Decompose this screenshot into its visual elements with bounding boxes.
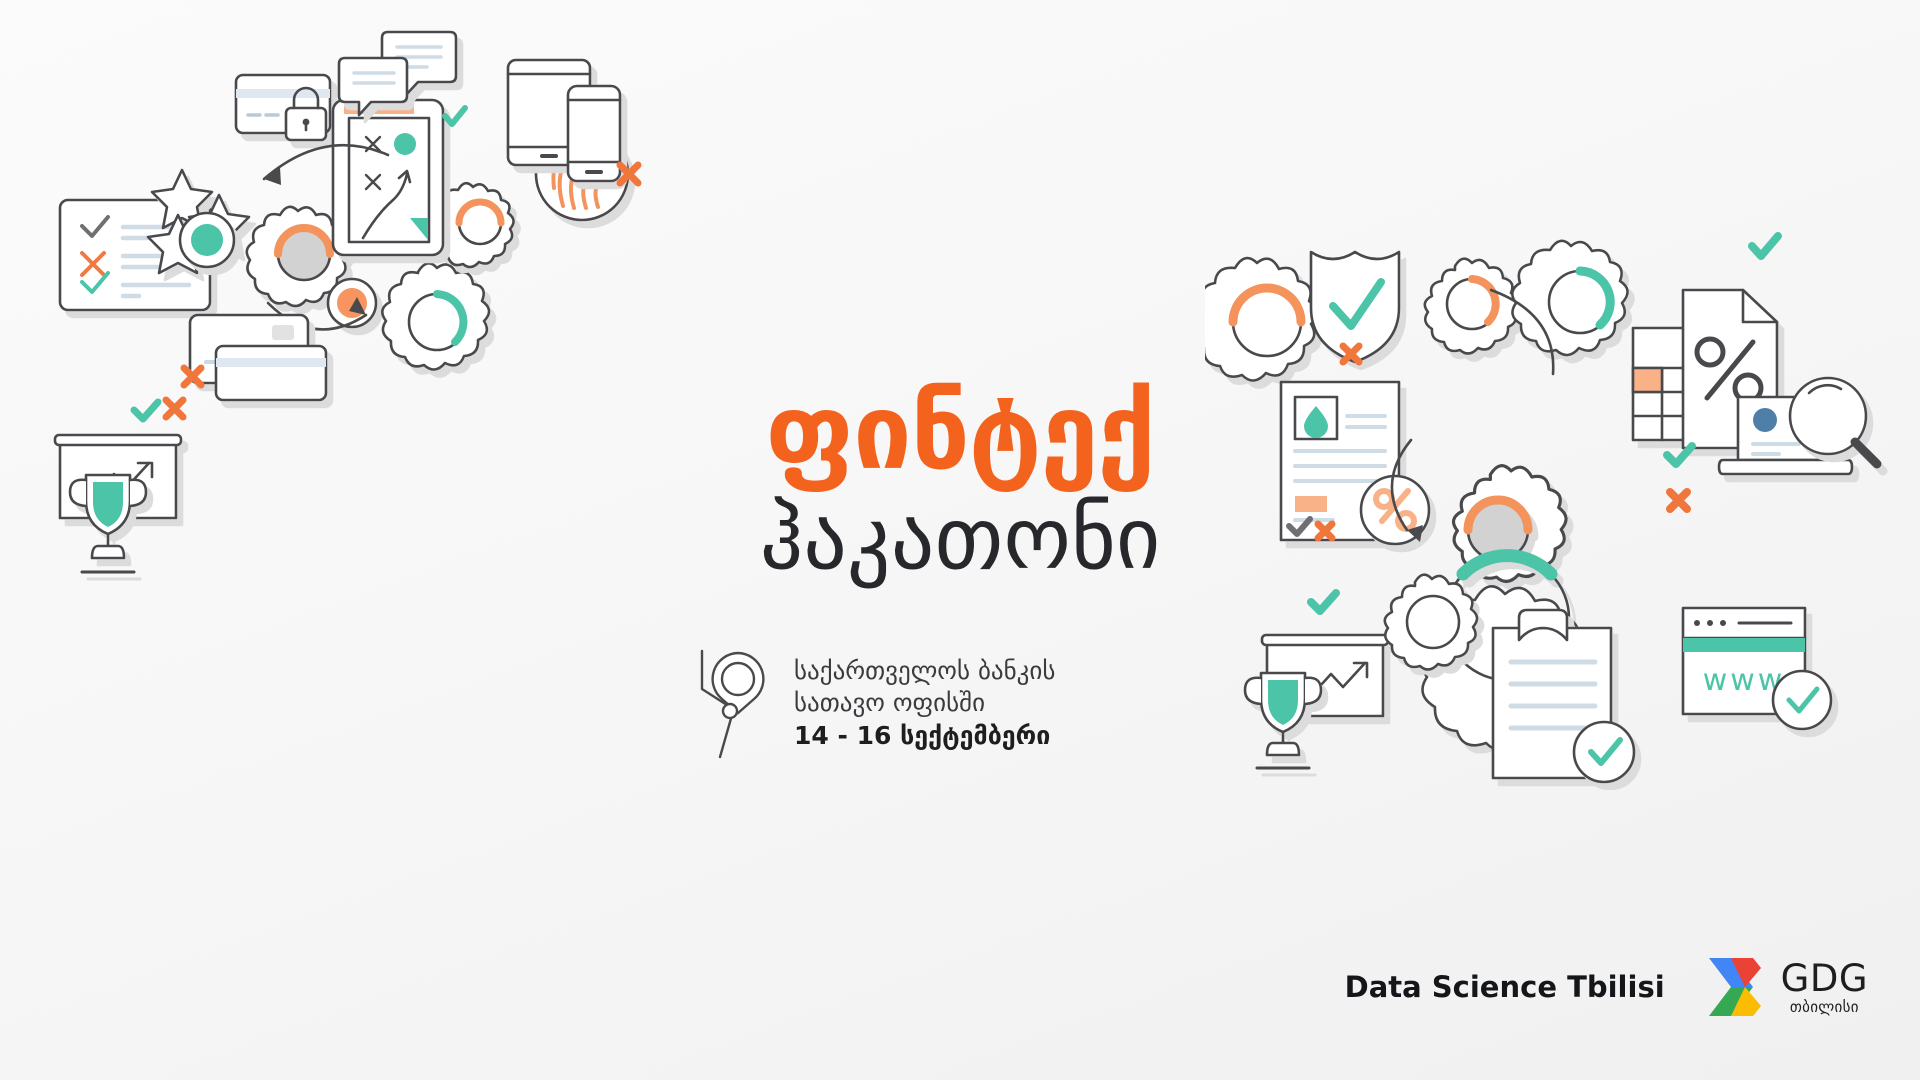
event-date: 14 - 16 სექტემბერი [794,721,1055,750]
gear-small-teal-icon [498,298,502,302]
gear-small-orange-icon [430,183,513,267]
credit-card-icon [190,315,308,383]
map-pin-icon [700,645,774,761]
cross-mark-icon [1343,346,1359,362]
chat-bubbles-icon [339,32,456,115]
checklist-document-icon [60,200,210,310]
gear-teal-arc-icon [1512,241,1627,355]
community-label: Data Science Tbilisi [1345,970,1665,1004]
venue-info: საქართველოს ბანკის სათავო ოფისში 14 - 16… [700,645,1055,761]
svg-text:www: www [1703,663,1786,698]
orange-dot-circle-icon [328,279,376,327]
trophy-icon [1245,673,1321,768]
star-icon [148,215,208,273]
venue-line-2: სათავო ოფისში [794,687,1055,719]
clipboard-lines-icon [1493,610,1611,778]
gear-orange-icon [1205,258,1317,381]
footer-branding: Data Science Tbilisi GDG თბილისი [1345,954,1868,1020]
clipboard-strategy-icon [333,88,443,255]
gear-small-gray-icon [1385,575,1477,670]
page-subtitle: ჰაკათონი [760,494,1161,584]
gdg-logo: GDG თბილისი [1705,954,1868,1020]
venue-line-1: საქართველოს ბანკის [794,655,1055,687]
teal-dot-circle-icon [180,213,234,267]
tablet-phone-icon [508,60,620,181]
gear-big-teal-icon [1422,556,1587,751]
presentation-growth-chart-icon [1262,635,1388,716]
page-title: ფინტექ [765,382,1154,484]
curved-arrow-icon [268,297,366,329]
curved-arrow-icon [264,145,388,185]
cross-mark-icon [620,165,638,183]
gdg-city-label: თბილისი [1790,1000,1859,1015]
hero-text-block: ფინტექ ჰაკათონი [0,382,1920,584]
browser-www-icon: www [1683,608,1805,714]
credit-card-lock-icon [236,75,330,140]
check-mark-icon [445,108,465,124]
check-circle-icon [1574,722,1634,782]
gear-small-orange-icon [1425,259,1517,354]
star-icon [152,170,212,228]
shield-check-icon [1311,252,1399,362]
gdg-wordmark: GDG [1781,960,1868,997]
check-circle-icon [1773,671,1831,729]
gdg-chevron-icon [1705,954,1767,1020]
fingerprint-icon [536,128,628,220]
poster-canvas: www [0,0,1920,1080]
gear-teal-icon [382,263,489,369]
gear-gray-orange-icon [247,207,348,306]
star-icon [189,195,249,253]
check-mark-icon [1752,236,1778,256]
check-mark-icon [1311,593,1336,611]
